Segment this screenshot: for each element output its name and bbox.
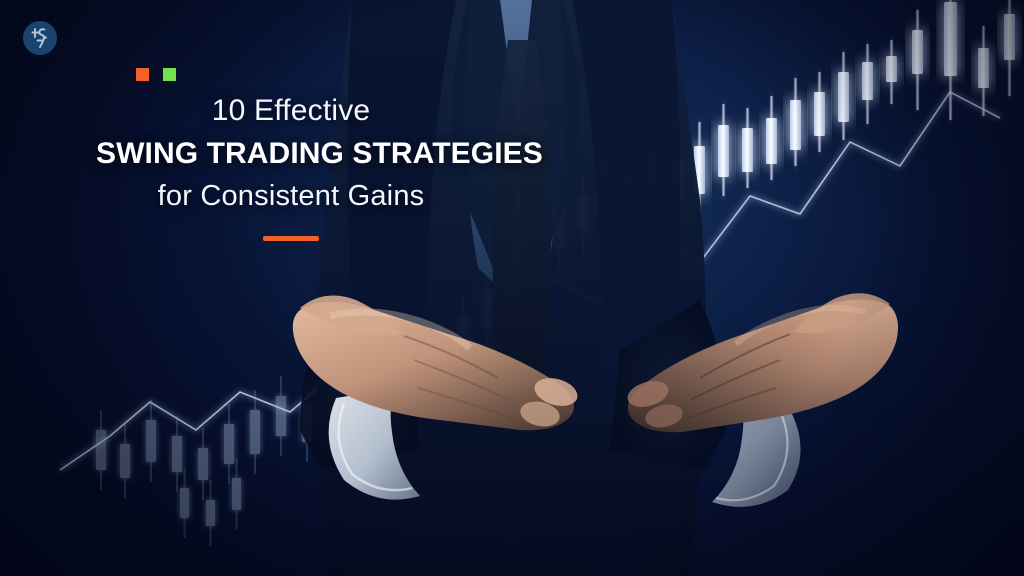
logo-mark [18, 16, 62, 60]
accent-square-green [163, 68, 176, 81]
accent-squares [136, 68, 176, 81]
headline-underline [263, 236, 319, 241]
headline-line-top: 10 Effective [96, 92, 486, 130]
headline-line-sub: for Consistent Gains [96, 178, 486, 214]
headline-block: 10 Effective SWING TRADING STRATEGIES fo… [96, 60, 486, 241]
accent-square-orange [136, 68, 149, 81]
headline-line-main: SWING TRADING STRATEGIES [96, 136, 486, 171]
brand-logo[interactable] [18, 16, 62, 60]
hero-banner: 10 Effective SWING TRADING STRATEGIES fo… [0, 0, 1024, 576]
